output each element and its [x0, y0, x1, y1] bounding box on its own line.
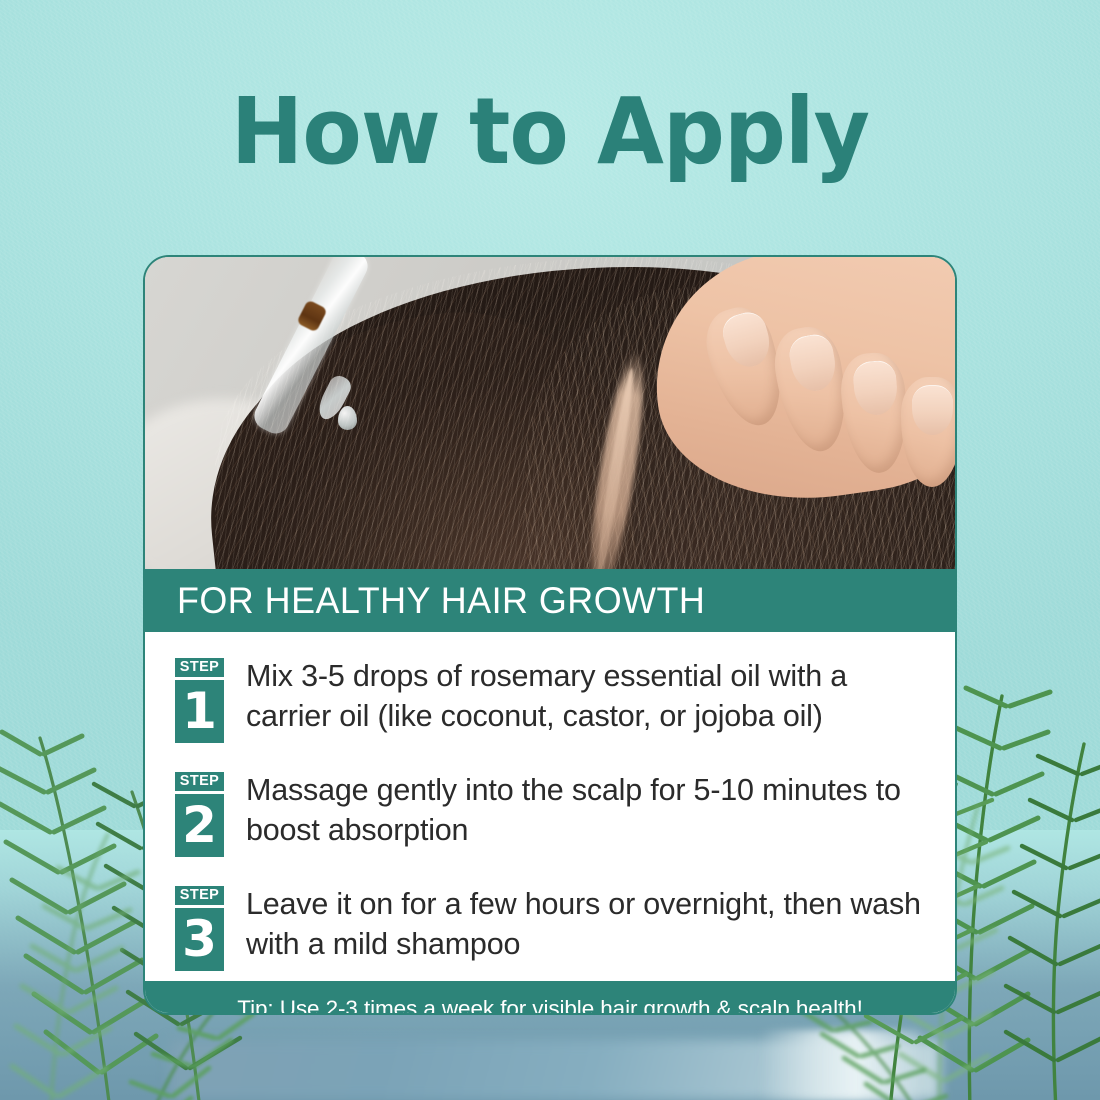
step-item: STEP 2 Massage gently into the scalp for… [175, 770, 925, 857]
background-glass-vase [760, 1030, 920, 1100]
step-label: STEP [175, 658, 224, 677]
card-band-title: FOR HEALTHY HAIR GROWTH [177, 580, 705, 622]
tip-text: Tip: Use 2-3 times a week for visible ha… [237, 996, 862, 1015]
step-item: STEP 3 Leave it on for a few hours or ov… [175, 884, 925, 971]
oil-droplet [338, 406, 357, 430]
how-to-apply-card: FOR HEALTHY HAIR GROWTH STEP 1 Mix 3-5 d… [143, 255, 957, 1015]
hero-photo [145, 257, 955, 569]
step-item: STEP 1 Mix 3-5 drops of rosemary essenti… [175, 656, 925, 743]
step-number: 3 [175, 908, 224, 971]
step-text: Leave it on for a few hours or overnight… [246, 884, 925, 964]
tip-footer: Tip: Use 2-3 times a week for visible ha… [145, 981, 955, 1015]
page-title: How to Apply [33, 86, 1067, 178]
steps-list: STEP 1 Mix 3-5 drops of rosemary essenti… [145, 632, 955, 981]
step-label: STEP [175, 772, 224, 791]
step-badge-2: STEP 2 [175, 772, 224, 857]
step-text: Massage gently into the scalp for 5-10 m… [246, 770, 925, 850]
step-badge-1: STEP 1 [175, 658, 224, 743]
step-label: STEP [175, 886, 224, 905]
step-number: 1 [175, 680, 224, 743]
step-badge-3: STEP 3 [175, 886, 224, 971]
step-text: Mix 3-5 drops of rosemary essential oil … [246, 656, 925, 736]
infographic-canvas: How to Apply [0, 0, 1100, 1100]
step-number: 2 [175, 794, 224, 857]
card-band: FOR HEALTHY HAIR GROWTH [145, 569, 955, 632]
